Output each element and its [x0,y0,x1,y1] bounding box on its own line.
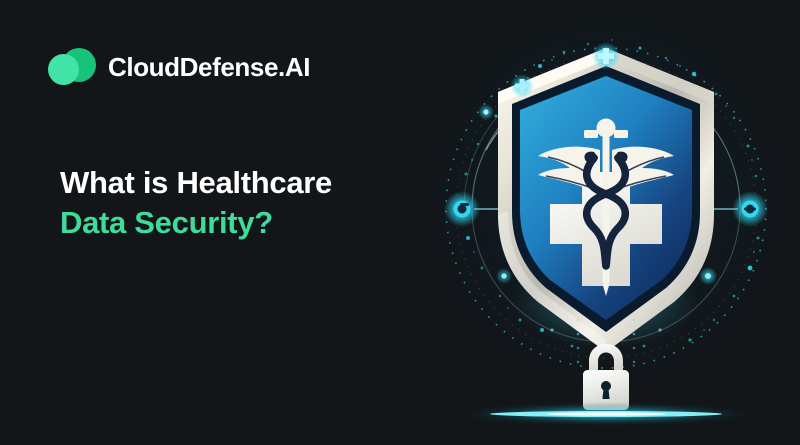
cloud-circles-logo-icon [48,46,96,88]
node-left-icon [444,191,480,227]
logo-circle-front [48,54,79,85]
banner: CloudDefense.AI What is Healthcare Data … [0,0,800,445]
headline-line-1: What is Healthcare [60,163,332,203]
floor-glow [456,402,756,426]
brand-name: CloudDefense.AI [108,52,310,83]
healthcare-data-security-shield [412,0,800,445]
headline-line-2: Data Security? [60,203,332,243]
page-title: What is Healthcare Data Security? [60,163,332,242]
brand-logo[interactable]: CloudDefense.AI [48,46,310,88]
node-lower-left-icon [496,268,512,284]
node-right-icon [732,191,768,227]
node-lower-right-icon [699,267,717,285]
medical-cross-node-icon-top [592,42,620,70]
medical-cross-node-icon-top-left [510,74,534,98]
node-upper-left-dot-icon [478,104,494,120]
